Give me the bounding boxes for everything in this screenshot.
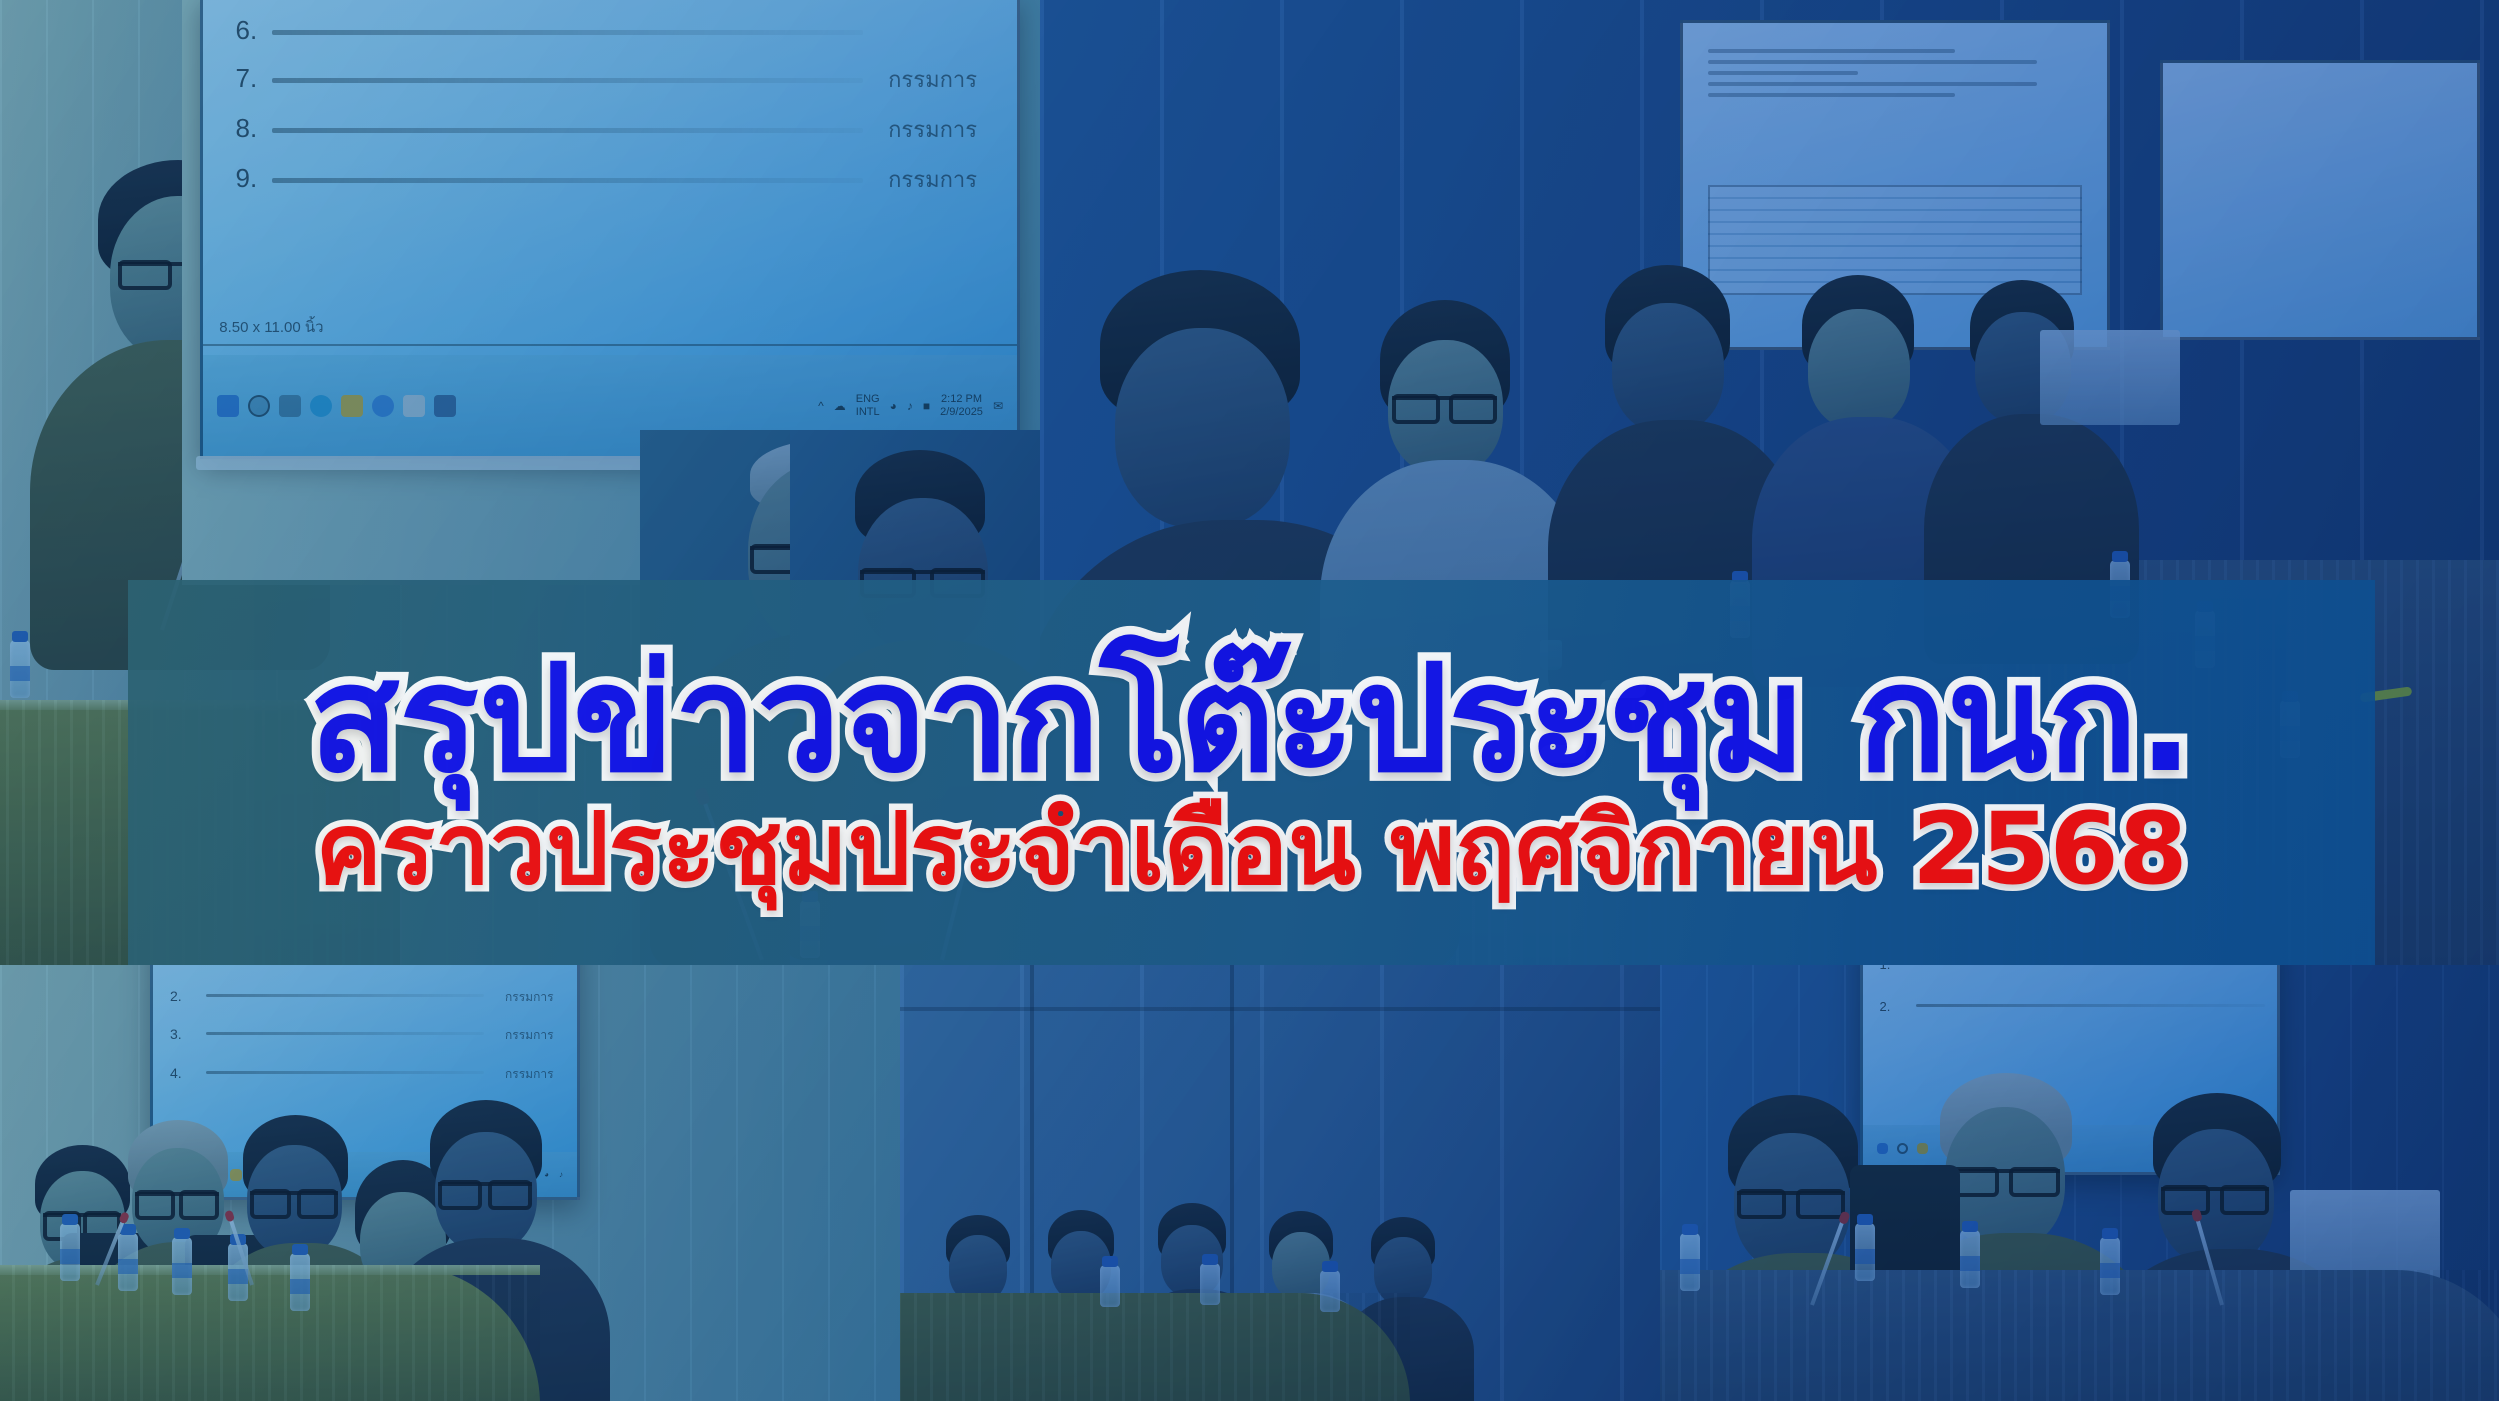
photo-bottom-center [900, 965, 1660, 1401]
photo-bottom-right: 1. 2. ◕ [1660, 965, 2499, 1401]
poster-canvas: 6. 7. กรรมการ 8. กรรมการ [0, 0, 2499, 1401]
poster-title-sub: คราวประชุมประจำเดือน พฤศจิกายน 2568 [315, 800, 2187, 901]
poster-title-main: สรุปข่าวจากโต๊ะประชุม กนก. [309, 644, 2194, 795]
title-banner: สรุปข่าวจากโต๊ะประชุม กนก. คราวประชุมประ… [128, 580, 2375, 965]
photo-bottom-left: 1.กรรมการ 2.กรรมการ 3.กรรมการ 4.กรรมการ … [0, 965, 900, 1401]
